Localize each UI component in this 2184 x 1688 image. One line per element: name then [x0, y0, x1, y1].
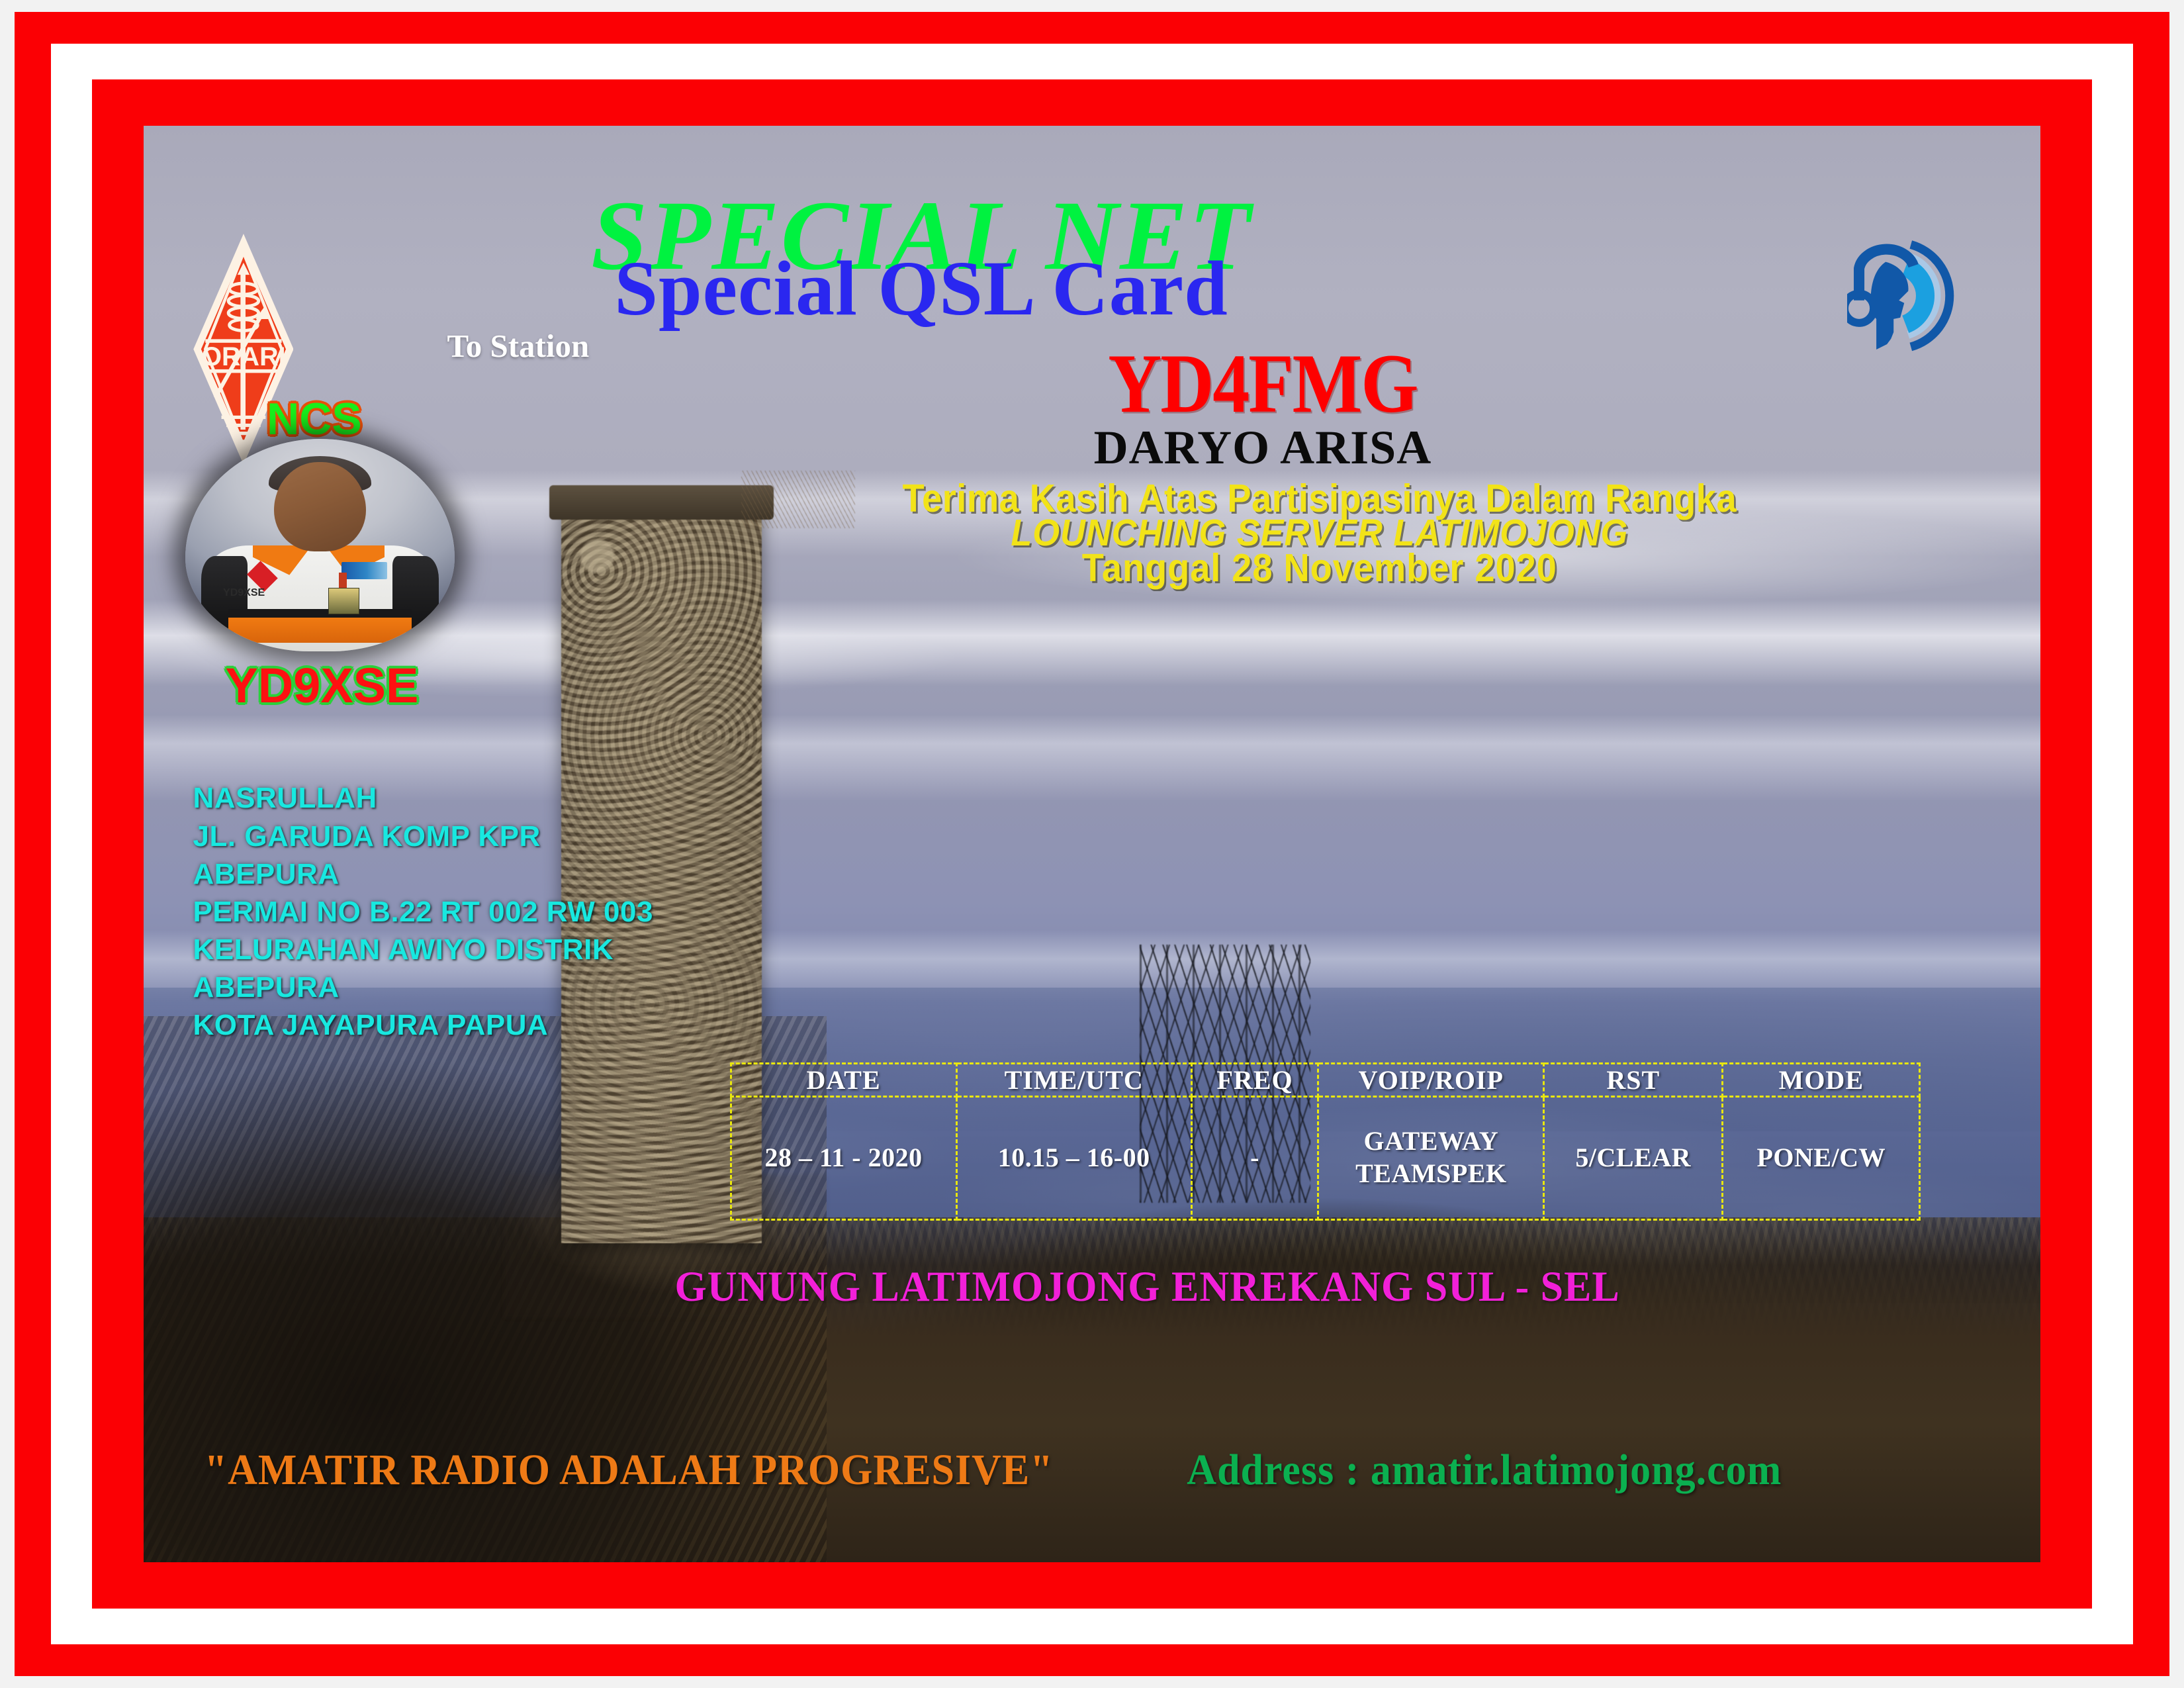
- address-line: JL. GARUDA KOMP KPR: [193, 818, 653, 855]
- operator-head: [274, 462, 365, 551]
- cell-rst: 5/CLEAR: [1544, 1096, 1723, 1219]
- address-line: NASRULLAH: [193, 779, 653, 817]
- column-header-mode: MODE: [1723, 1063, 1920, 1096]
- qsl-card: ORARI: [0, 0, 2184, 1688]
- ncs-label: NCS: [201, 393, 428, 445]
- column-header-time: TIME/UTC: [956, 1063, 1191, 1096]
- column-header-freq: FREQ: [1191, 1063, 1318, 1096]
- footer-web-address: Address : amatir.latimojong.com: [1187, 1446, 1782, 1495]
- cell-voip: GATEWAY TEAMSPEK: [1318, 1096, 1544, 1219]
- card-outer-red-border: ORARI: [15, 12, 2169, 1676]
- address-line: ABEPURA: [193, 855, 653, 893]
- card-inner-red-border: ORARI: [92, 79, 2092, 1609]
- column-header-date: DATE: [731, 1063, 956, 1096]
- column-header-rst: RST: [1544, 1063, 1723, 1096]
- orari-logo-text: ORARI: [201, 342, 285, 371]
- operator-id-badge: [328, 588, 359, 615]
- operator-callsign-patch: YD9XSE: [223, 588, 277, 598]
- operator-logo-patch: [341, 562, 387, 579]
- address-line: KOTA JAYAPURA PAPUA: [193, 1006, 653, 1044]
- column-header-voip: VOIP/ROIP: [1318, 1063, 1544, 1096]
- operator-name: DARYO ARISA: [940, 420, 1585, 475]
- table-row: 28 – 11 - 2020 10.15 – 16-00 - GATEWAY T…: [731, 1096, 1920, 1219]
- table-header-row: DATE TIME/UTC FREQ VOIP/ROIP RST MODE: [731, 1063, 1920, 1096]
- station-callsign: YD4FMG: [940, 335, 1585, 432]
- page-subtitle: Special QSL Card: [334, 244, 1510, 334]
- address-line: ABEPURA: [193, 968, 653, 1006]
- card-white-border: ORARI: [51, 44, 2133, 1644]
- footer-motto: "AMATIR RADIO ADALAH PROGRESIVE": [205, 1446, 1054, 1495]
- cairn-cap: [549, 485, 773, 520]
- cell-voip-line2: TEAMSPEK: [1319, 1158, 1543, 1190]
- ncs-address-block: NASRULLAH JL. GARUDA KOMP KPR ABEPURA PE…: [193, 779, 653, 1044]
- to-station-label: To Station: [447, 327, 590, 365]
- operator-waist-band: [228, 618, 412, 643]
- qso-log-table: DATE TIME/UTC FREQ VOIP/ROIP RST MODE 28…: [730, 1062, 1921, 1221]
- address-line: KELURAHAN AWIYO DISTRIK: [193, 931, 653, 968]
- ncs-callsign: YD9XSE: [189, 657, 455, 714]
- event-line-3: Tanggal 28 November 2020: [796, 545, 1843, 590]
- cell-mode: PONE/CW: [1723, 1096, 1920, 1219]
- address-line: PERMAI NO B.22 RT 002 RW 003: [193, 893, 653, 931]
- cell-voip-line1: GATEWAY: [1319, 1125, 1543, 1158]
- cell-freq: -: [1191, 1096, 1318, 1219]
- cell-date: 28 – 11 - 2020: [731, 1096, 956, 1219]
- radio-headset-logo: [1847, 163, 1980, 428]
- cell-time: 10.15 – 16-00: [956, 1096, 1191, 1219]
- location-caption: GUNUNG LATIMOJONG ENREKANG SUL - SEL: [674, 1262, 1813, 1312]
- card-photo-background: ORARI: [144, 126, 2040, 1562]
